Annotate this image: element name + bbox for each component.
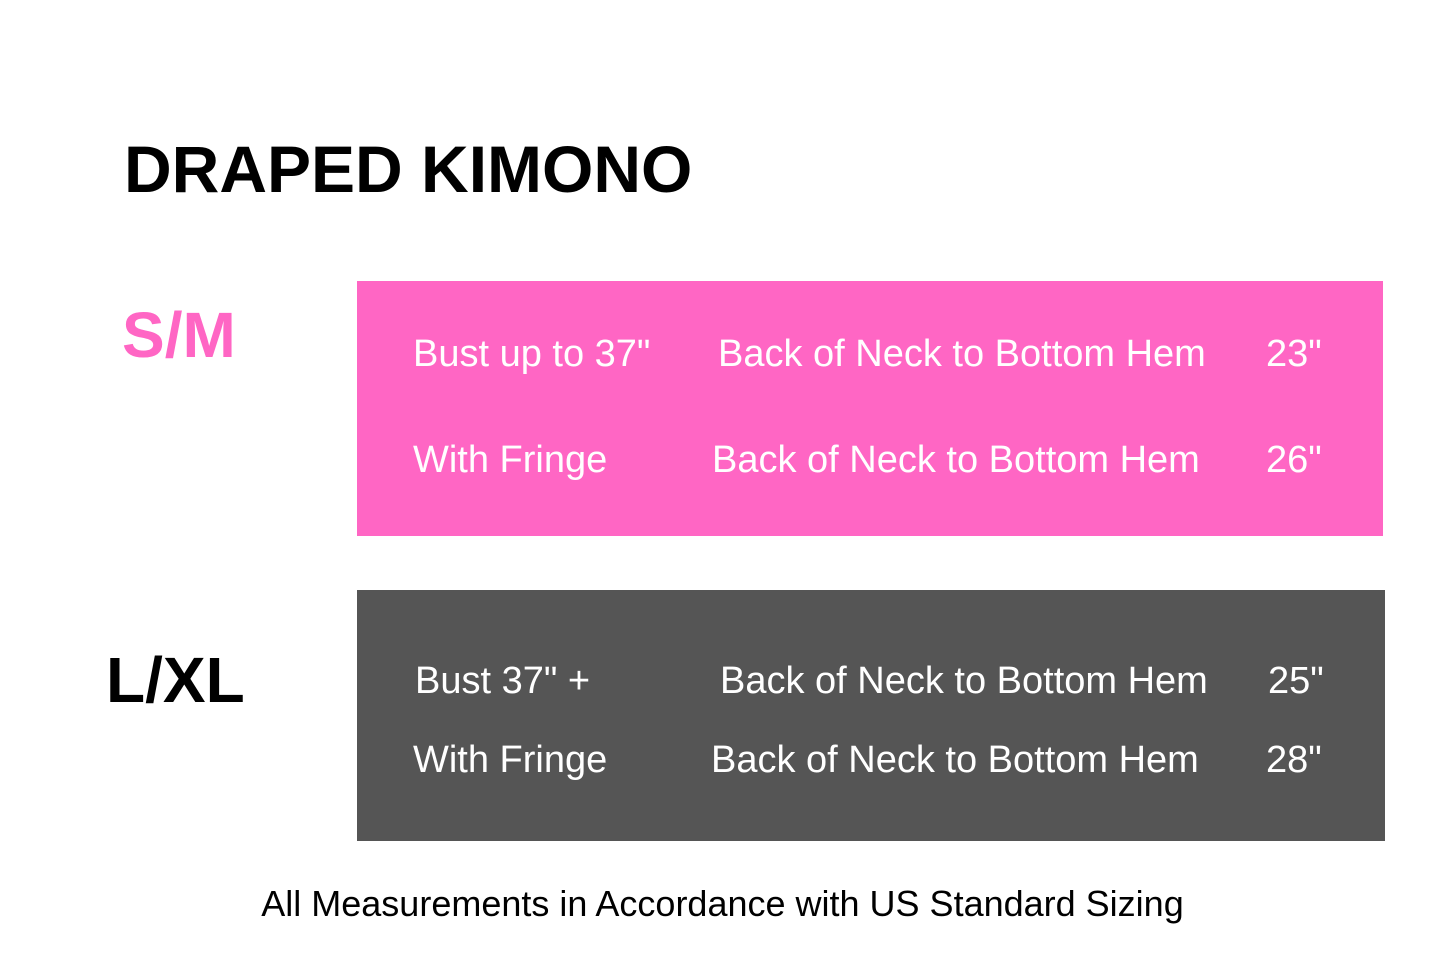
length-value: 28" (1266, 741, 1322, 779)
length-description: Back of Neck to Bottom Hem (711, 741, 1199, 779)
length-description: Back of Neck to Bottom Hem (720, 662, 1208, 700)
length-description: Back of Neck to Bottom Hem (712, 441, 1200, 479)
length-value: 26" (1266, 441, 1322, 479)
length-value: 23" (1266, 335, 1322, 373)
size-label-lxl: L/XL (106, 648, 245, 712)
bust-measurement: Bust up to 37" (413, 335, 650, 373)
footer-note: All Measurements in Accordance with US S… (0, 886, 1445, 922)
fringe-measurement: With Fringe (413, 441, 607, 479)
size-label-sm: S/M (122, 303, 236, 367)
size-band-lxl: Bust 37" + Back of Neck to Bottom Hem 25… (357, 590, 1385, 841)
size-band-sm: Bust up to 37" Back of Neck to Bottom He… (357, 281, 1383, 536)
fringe-measurement: With Fringe (413, 741, 607, 779)
size-chart: DRAPED KIMONO S/M Bust up to 37" Back of… (0, 0, 1445, 963)
length-value: 25" (1268, 662, 1324, 700)
bust-measurement: Bust 37" + (415, 662, 590, 700)
length-description: Back of Neck to Bottom Hem (718, 335, 1206, 373)
page-title: DRAPED KIMONO (124, 136, 692, 202)
